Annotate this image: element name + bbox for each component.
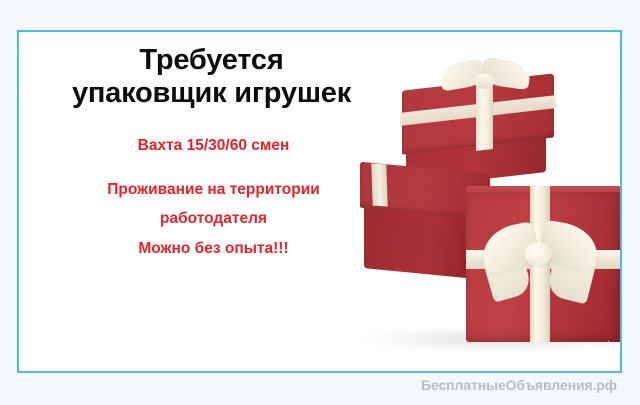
detail-line-housing-2: работодателя (43, 209, 384, 229)
red-gift-boxes-photo: esty (354, 60, 622, 360)
front-box-bow-knot (524, 242, 552, 266)
middle-box-ribbon (371, 163, 387, 206)
advert-canvas: Требуется упаковщик игрушек Вахта 15/30/… (0, 0, 640, 405)
site-watermark: БесплатныеОбъявления.рф (421, 377, 617, 393)
headline-line-2: упаковщик игрушек (39, 77, 384, 110)
page-title: Требуется упаковщик игрушек (39, 44, 384, 110)
detail-line-experience: Можно без опыта!!! (43, 239, 384, 259)
detail-line-housing-1: Проживание на территории (43, 180, 384, 200)
advert-details: Вахта 15/30/60 смен Проживание на террит… (39, 136, 384, 260)
headline-line-1: Требуется (39, 44, 384, 77)
advert-text-column: Требуется упаковщик игрушек Вахта 15/30/… (39, 44, 384, 259)
top-box-bow-knot (474, 74, 494, 89)
detail-line-shift: Вахта 15/30/60 смен (43, 136, 384, 156)
advert-card: Требуется упаковщик игрушек Вахта 15/30/… (17, 30, 622, 373)
photo-inner-watermark: esty (596, 340, 616, 350)
